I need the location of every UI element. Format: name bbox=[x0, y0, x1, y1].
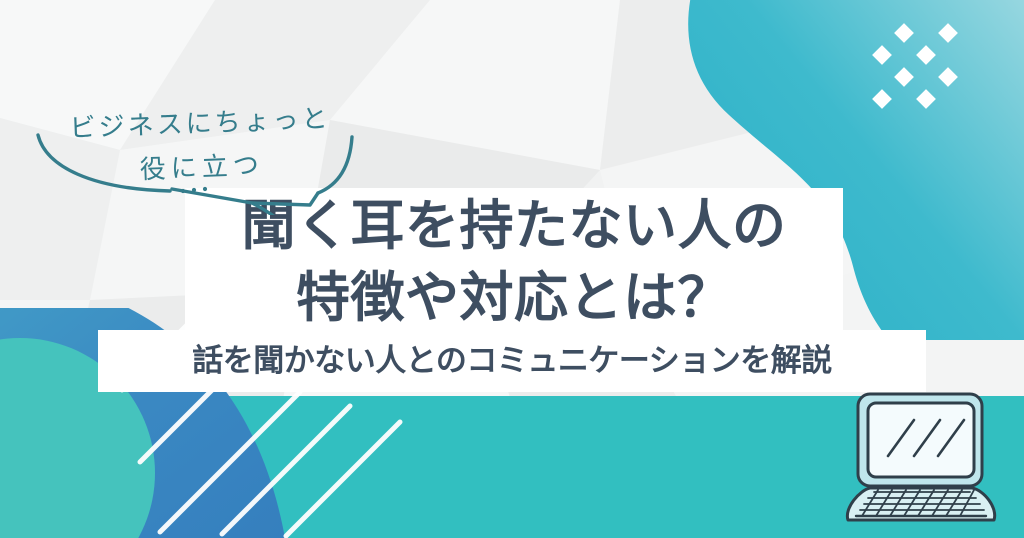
eyecatch-banner: 聞く耳を持たない人の 特徴や対応とは？ 話を聞かない人とのコミュニケーションを解… bbox=[0, 0, 1024, 538]
speech-bubble-tail-icon bbox=[20, 105, 380, 215]
page-subtitle: 話を聞かない人とのコミュニケーションを解説 bbox=[98, 337, 926, 385]
laptop-icon bbox=[822, 390, 1012, 530]
diamond-dot-grid-icon bbox=[866, 22, 996, 112]
